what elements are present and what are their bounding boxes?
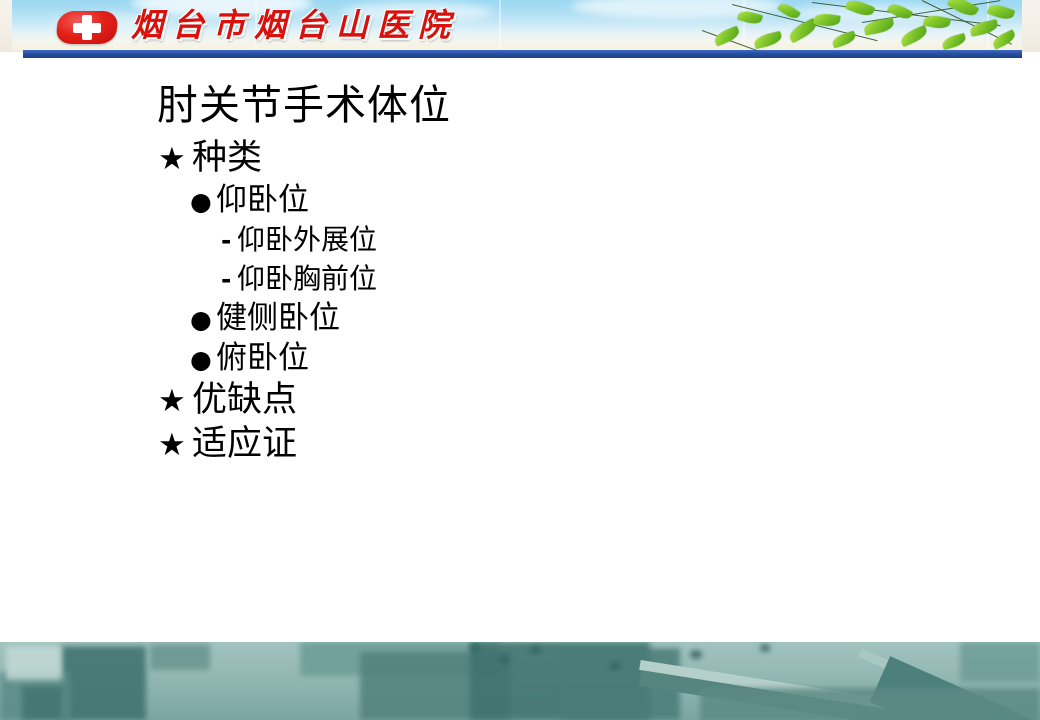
slide-footer-image [0, 642, 1040, 720]
bullet-item: ●健侧卧位 [0, 299, 1040, 339]
bullet-item: ★适应证 [0, 423, 1040, 466]
bullet-text: 种类 [192, 137, 262, 179]
cross-glyph [73, 15, 101, 40]
bullet-item: -仰卧外展位 [0, 221, 1040, 260]
bullet-item: ★种类 [0, 137, 1040, 180]
bullet-item: ●仰卧位 [0, 181, 1040, 221]
bullet-marker-icon: ● [190, 183, 216, 221]
bullet-marker-icon: ● [190, 341, 216, 379]
header-blue-rule [23, 50, 1022, 58]
bullet-marker-icon: ★ [158, 424, 192, 466]
bullet-text: 健侧卧位 [216, 299, 340, 337]
presentation-slide: 烟台市烟台山医院 肘关节手术体位 ★种类●仰卧位-仰卧外展位-仰卧胸前位●健侧卧… [0, 0, 1040, 720]
bullet-item: -仰卧胸前位 [0, 260, 1040, 299]
bullet-text: 适应证 [192, 423, 297, 465]
bullet-marker-icon: ★ [158, 138, 192, 180]
red-cross-logo-icon [57, 11, 117, 44]
bullet-text: 仰卧位 [216, 181, 309, 219]
bullet-marker-icon: - [221, 222, 237, 260]
hospital-name-title: 烟台市烟台山医院 [131, 6, 459, 44]
bullet-list: ★种类●仰卧位-仰卧外展位-仰卧胸前位●健侧卧位●俯卧位★优缺点★适应证 [0, 137, 1040, 467]
bullet-marker-icon: ★ [158, 380, 192, 422]
banner-seam [499, 0, 501, 51]
slide-body: 肘关节手术体位 ★种类●仰卧位-仰卧外展位-仰卧胸前位●健侧卧位●俯卧位★优缺点… [0, 59, 1040, 642]
bullet-item: ★优缺点 [0, 379, 1040, 422]
leaf-branch-icon [692, 0, 1022, 51]
bullet-marker-icon: ● [190, 301, 216, 339]
bullet-text: 俯卧位 [216, 339, 309, 377]
bullet-marker-icon: - [221, 261, 237, 299]
bullet-text: 仰卧胸前位 [237, 260, 377, 298]
slide-title: 肘关节手术体位 [157, 82, 451, 129]
bullet-item: ●俯卧位 [0, 339, 1040, 379]
bullet-text: 优缺点 [192, 379, 297, 421]
slide-header-banner: 烟台市烟台山医院 [0, 0, 1040, 59]
bullet-text: 仰卧外展位 [237, 221, 377, 259]
